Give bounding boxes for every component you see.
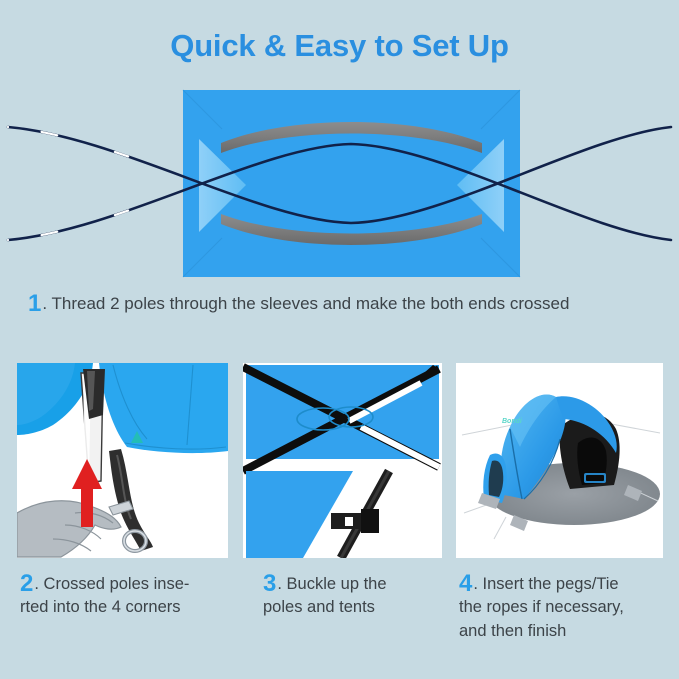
step-4-text-line-3: and then finish xyxy=(459,620,669,643)
step-4-caption: 4. Insert the pegs/Tie the ropes if nece… xyxy=(459,572,669,643)
step-2-number: 2 xyxy=(20,570,33,597)
step-2-caption: 2. Crossed poles inse- rted into the 4 c… xyxy=(20,572,235,620)
tent-logo: Bondi xyxy=(502,418,523,425)
step-1-caption: 1. Thread 2 poles through the sleeves an… xyxy=(28,292,668,316)
step-4-text-line-2: the ropes if necessary, xyxy=(459,596,669,619)
step-3-text-line-1: Buckle up the xyxy=(287,575,387,593)
step-2-text-line-2: rted into the 4 corners xyxy=(20,596,235,619)
crossed-poles-subimage xyxy=(243,365,439,471)
step-2-text-line-1: Crossed poles inse- xyxy=(44,575,190,593)
step-1-illustration xyxy=(0,82,679,287)
buckle-strap-subimage xyxy=(246,471,439,558)
page-title: Quick & Easy to Set Up xyxy=(0,28,679,64)
step-1-text: Thread 2 poles through the sleeves and m… xyxy=(52,294,570,313)
step-1-separator: . xyxy=(42,294,47,313)
step-2-separator: . xyxy=(34,575,39,593)
step-3-separator: . xyxy=(277,575,282,593)
step-4-separator: . xyxy=(473,575,478,593)
step-4-number: 4 xyxy=(459,570,472,597)
step-3-caption: 3. Buckle up the poles and tents xyxy=(263,572,448,620)
step-2-illustration xyxy=(17,363,228,558)
step-3-illustration xyxy=(243,363,442,558)
tent-logo-text: Bondi xyxy=(502,418,523,425)
step-3-number: 3 xyxy=(263,570,276,597)
step-3-text-line-2: poles and tents xyxy=(263,596,448,619)
step-4-illustration: Bondi xyxy=(456,363,663,558)
instruction-sheet: Quick & Easy to Set Up xyxy=(0,0,679,679)
step-4-text-line-1: Insert the pegs/Tie xyxy=(483,575,619,593)
step-1-number: 1 xyxy=(28,290,41,317)
